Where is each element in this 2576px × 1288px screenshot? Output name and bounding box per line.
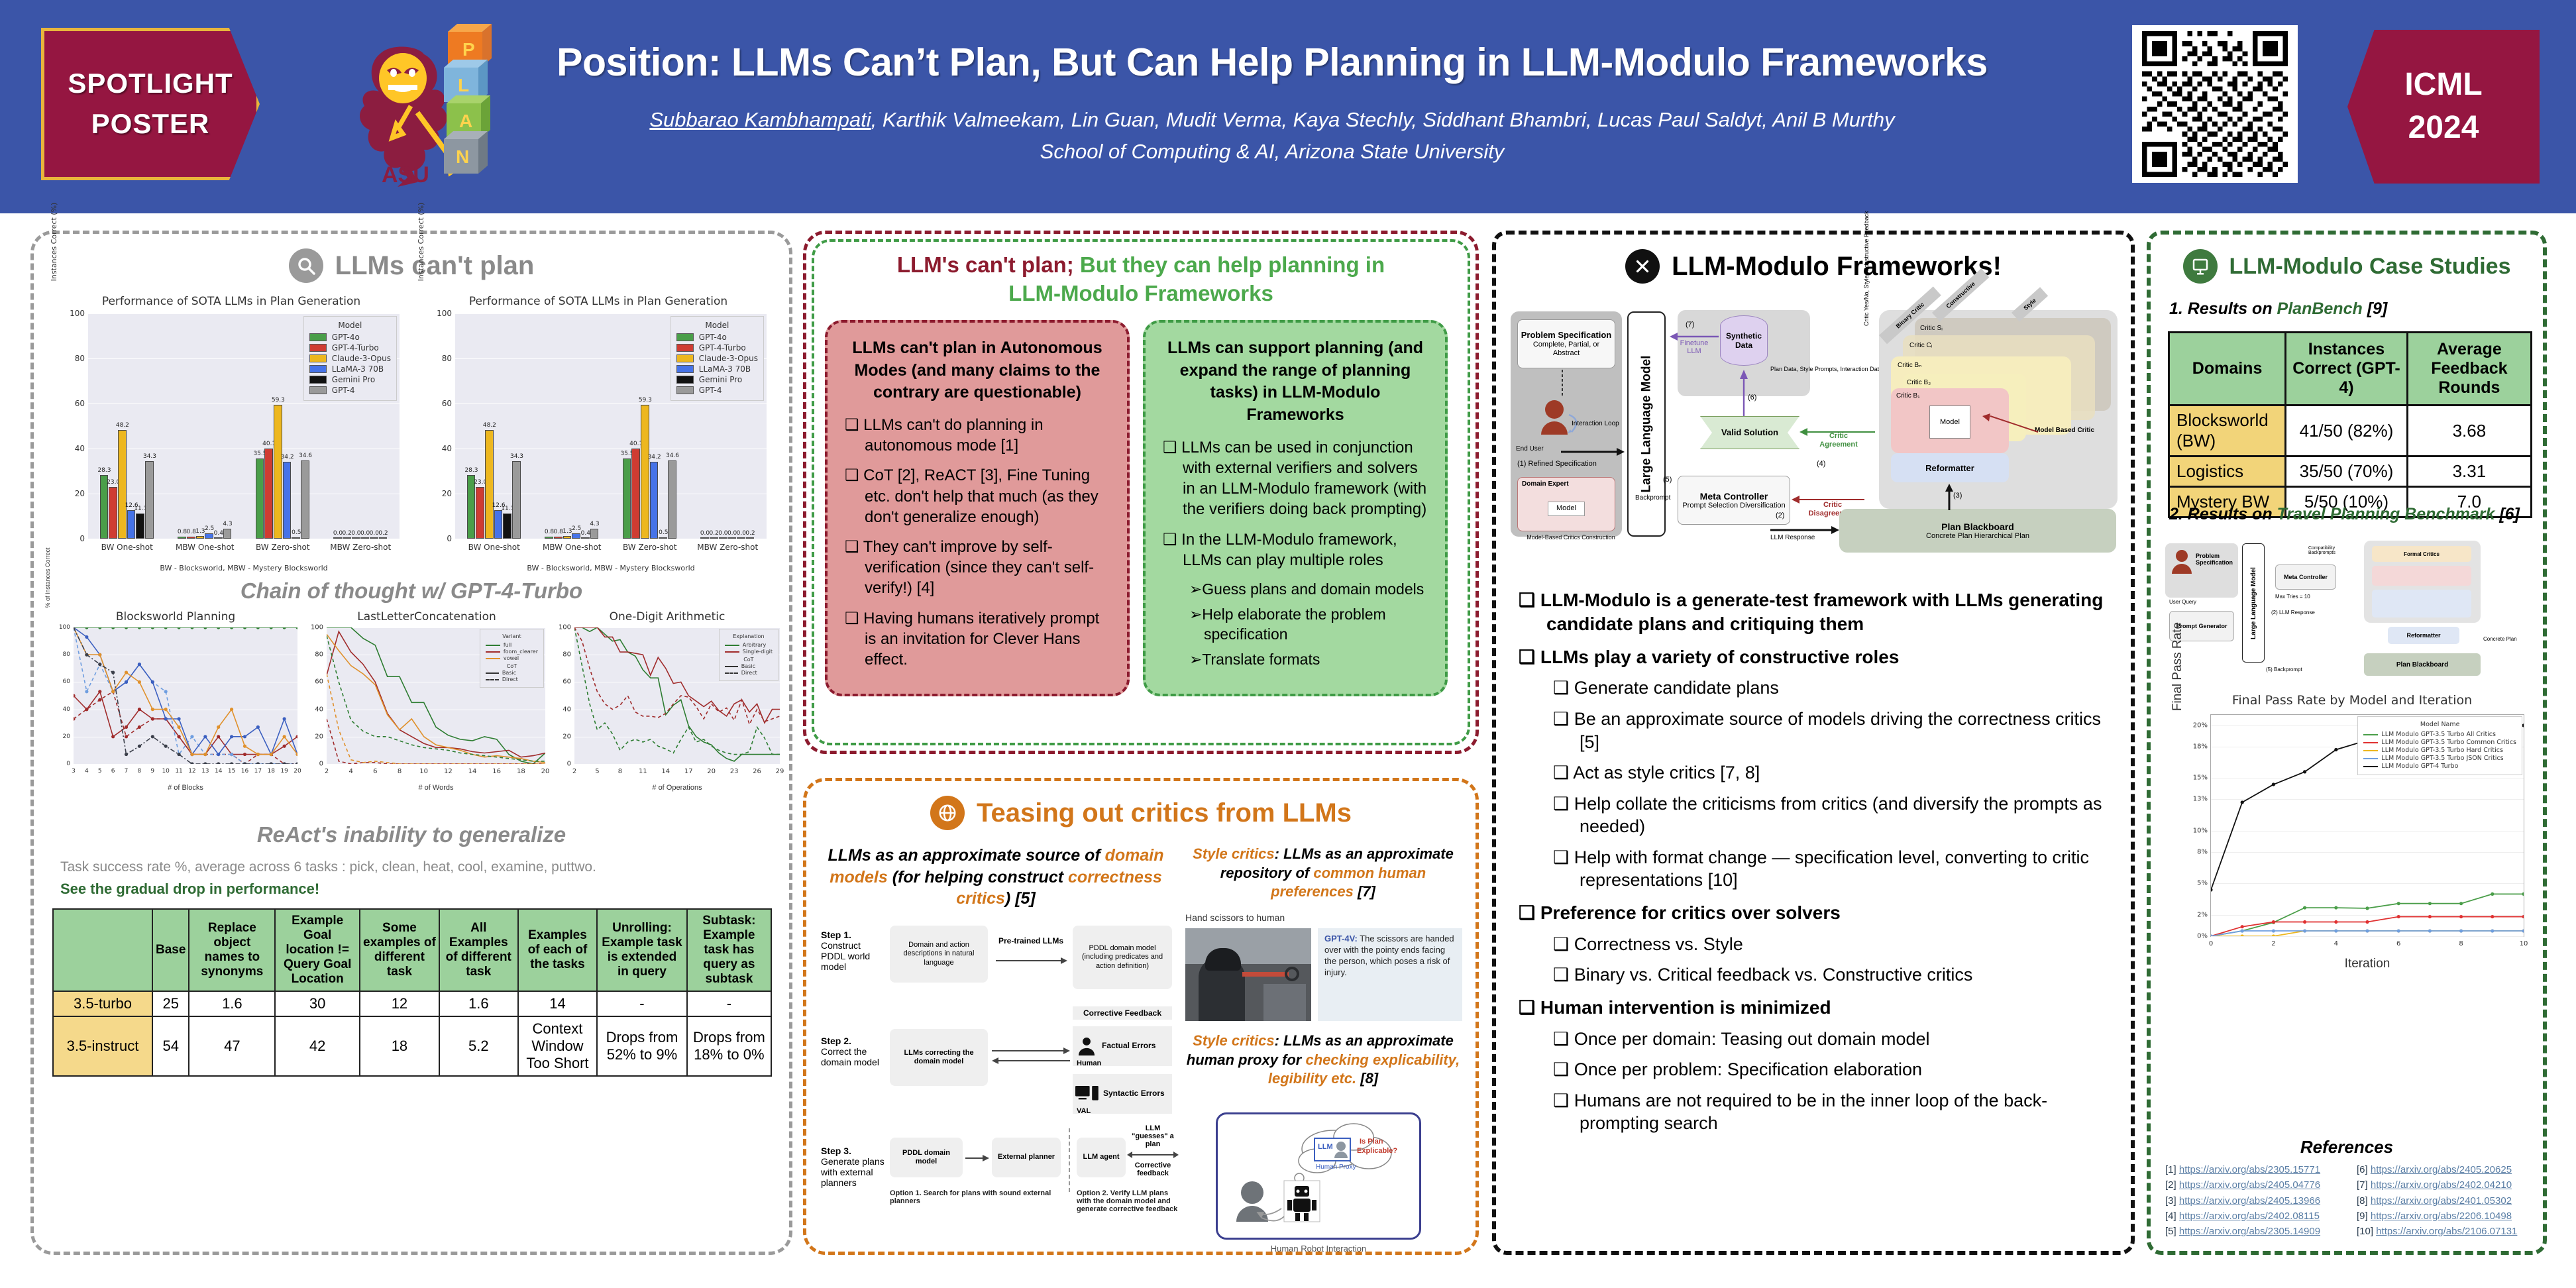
legend-label: LLaMA-3 70B	[699, 364, 751, 374]
svg-text:N: N	[456, 146, 469, 167]
bar-value-label: 34.2	[645, 454, 664, 460]
reference-link[interactable]: https://arxiv.org/abs/2305.14909	[2179, 1226, 2320, 1237]
chart-ylabel: Instances Correct (%)	[417, 149, 425, 335]
pddl-steps-diagram: Step 1. Construct PDDL world model Domai…	[821, 926, 1179, 1237]
llm-response-label: LLM Response	[1770, 534, 1815, 541]
bar-value-label: 34.2	[278, 454, 297, 460]
bullet-secondary: ❑ Help with format change — specificatio…	[1553, 846, 2115, 892]
legend-label: GPT-4-Turbo	[699, 343, 746, 352]
reference-number: [6]	[2357, 1164, 2371, 1175]
y-axis-tick: 5%	[2197, 880, 2208, 887]
col4-heading: LLM-Modulo Case Studies	[2151, 235, 2543, 284]
legend-line-swatch	[725, 651, 739, 653]
table-cell: 25	[152, 991, 189, 1016]
step2-num: Step 2.	[821, 1036, 851, 1046]
table-row-header: Logistics	[2169, 456, 2286, 487]
section1-ref: [9]	[2363, 299, 2388, 318]
legend-label: GPT-4o	[332, 333, 360, 342]
bullet-primary: ❑ Preference for critics over solvers	[1519, 901, 2115, 925]
y-axis-tick: 100	[559, 624, 571, 631]
page-title: Position: LLMs Can’t Plan, But Can Help …	[510, 40, 2034, 85]
hri-diagram: LLM Human Proxy Is Plan Explicable?	[1216, 1112, 1421, 1240]
y-axis-tick: 60	[75, 399, 85, 408]
reference-link[interactable]: https://arxiv.org/abs/2305.15771	[2179, 1164, 2320, 1175]
x-axis-tick: MBW One-shot	[543, 543, 602, 552]
travel-compatibility: Compatibility Backprompts	[2308, 546, 2355, 555]
y-axis-tick: 0	[80, 534, 85, 543]
bar	[343, 537, 351, 539]
bar	[485, 430, 494, 539]
y-axis-tick: 40	[75, 444, 85, 453]
llm-bar: Large Language Model	[1627, 311, 1666, 537]
step2-val-error: Syntactic Errors	[1103, 1089, 1165, 1098]
legend-label: GPT-4-Turbo	[332, 343, 379, 352]
legend-label: GPT-4o	[699, 333, 727, 342]
table-header-cell: Replace object names to synonyms	[189, 909, 275, 991]
hri-caption: Human Robot Interaction	[1218, 1244, 1419, 1254]
bar	[333, 537, 342, 539]
chart-title: LastLetterConcatenation	[297, 610, 556, 623]
x-axis-tick: 5	[595, 768, 599, 775]
legend-label: full	[504, 642, 511, 648]
scissors-photo	[1185, 928, 1311, 1021]
legend-swatch	[676, 333, 694, 341]
travel-llm-bar: Large Language Model	[2242, 543, 2265, 663]
red-callout-list: ❑ LLMs can't do planning in autonomous m…	[845, 415, 1110, 670]
travel-concrete-plan: Concrete Plan	[2483, 636, 2530, 642]
col4-title: LLM-Modulo Case Studies	[2229, 254, 2511, 280]
meta-controller-sub: Prompt Selection Diversification	[1682, 502, 1785, 510]
bar	[650, 462, 659, 539]
rt2-3: [8]	[1356, 1070, 1378, 1087]
table-cell: 3.31	[2407, 456, 2531, 487]
y-axis-tick: 80	[63, 651, 70, 658]
lt-0: LLMs as an approximate source of	[828, 846, 1104, 865]
bar	[623, 458, 631, 539]
bar	[118, 430, 127, 539]
step1-num: Step 1.	[821, 930, 851, 940]
table-header-cell: Average Feedback Rounds	[2407, 333, 2531, 405]
travel-diagram: Problem Specification Prompt Generator L…	[2165, 537, 2536, 689]
critics-box: Teasing out critics from LLMs LLMs as an…	[803, 778, 1479, 1255]
x-axis-tick: 8	[398, 768, 402, 775]
author-list: Subbarao Kambhampati, Karthik Valmeekam,…	[510, 105, 2034, 136]
chart-ylabel: Instances Correct (%)	[50, 149, 58, 335]
x-axis-tick: 6	[373, 768, 377, 775]
step3-label: Step 3. Generate plans with external pla…	[821, 1146, 885, 1188]
reference-link[interactable]: https://arxiv.org/abs/2405.13966	[2179, 1195, 2320, 1207]
col3-heading: LLM-Modulo Frameworks!	[1496, 235, 2131, 284]
legend-line-swatch	[486, 679, 499, 680]
travel-llm-label: Large Language Model	[2250, 567, 2257, 639]
x-axis-tick: 26	[753, 768, 761, 775]
y-axis-tick: 60	[563, 678, 571, 686]
table-header-cell: Base	[152, 909, 189, 991]
bar	[563, 536, 572, 539]
x-axis-tick: 9	[150, 768, 154, 775]
svg-text:L: L	[458, 75, 469, 95]
x-axis-tick: 14	[468, 768, 477, 775]
table-cell: Drops from 52% to 9%	[597, 1016, 687, 1076]
model-based-critic-label: Model Based Critic	[2031, 427, 2098, 435]
x-axis-tick: 18	[268, 768, 275, 775]
bar-value-label: 0.2	[741, 530, 760, 537]
references-heading: References	[2151, 1137, 2543, 1157]
bar	[196, 536, 205, 539]
reference-item: [2] https://arxiv.org/abs/2405.04776	[2165, 1177, 2345, 1193]
chart-ylabel: Final Pass Rate	[2171, 587, 2185, 746]
section2-prefix: 2. Results on	[2169, 505, 2277, 523]
y-axis-tick: 0	[319, 761, 323, 768]
x-axis-tick: 29	[776, 768, 784, 775]
table-row: 3.5-turbo251.630121.614--	[53, 991, 771, 1016]
reference-number: [7]	[2357, 1179, 2371, 1191]
spotlight-line1: SPOTLIGHT	[68, 64, 233, 104]
cot-heading: Chain of thought w/ GPT-4-Turbo	[34, 578, 789, 604]
synthetic-data-cylinder: Synthetic Data	[1720, 315, 1768, 366]
legend-label: Direct	[502, 676, 518, 682]
spotlight-line2: POSTER	[91, 104, 210, 144]
reference-item: [10] https://arxiv.org/abs/2106.07131	[2357, 1224, 2536, 1239]
legend-label: Basic	[741, 663, 755, 669]
valid-solution-box: Valid Solution	[1700, 416, 1799, 449]
legend-label: Gemini Pro	[332, 375, 376, 384]
x-axis-tick: BW One-shot	[101, 543, 153, 552]
bar	[379, 537, 388, 539]
chart-title: Blocksworld Planning	[43, 610, 308, 623]
bar	[145, 461, 154, 539]
bar-value-label: 59.3	[269, 397, 288, 403]
presentation-icon	[2183, 249, 2218, 284]
plan-blackboard-title: Plan Blackboard	[1941, 521, 2014, 532]
legend-line-swatch	[2363, 734, 2378, 735]
step2-label: Step 2. Correct the domain model	[821, 1036, 885, 1067]
legend-label: Claude-3-Opus	[699, 354, 758, 363]
bullet-secondary: ❑ Act as style critics [7, 8]	[1553, 761, 2115, 784]
y-axis-tick: 20	[563, 733, 571, 740]
legend-swatch	[309, 386, 327, 394]
x-axis-tick: MBW Zero-shot	[697, 543, 758, 552]
svg-text:P: P	[462, 39, 475, 60]
x-axis-tick: 20	[707, 768, 716, 775]
bar	[256, 458, 264, 539]
table-cell: 18	[360, 1016, 439, 1076]
chart-title: Performance of SOTA LLMs in Plan Generat…	[413, 295, 784, 308]
step2-val-box: Syntactic Errors VAL	[1073, 1074, 1172, 1114]
legend-label: LLaMA-3 70B	[332, 364, 384, 374]
table-cell: Context Window Too Short	[518, 1016, 597, 1076]
y-axis-tick: 100	[437, 309, 452, 318]
reference-number: [4]	[2165, 1210, 2179, 1222]
table-cell: 41/50 (82%)	[2286, 405, 2408, 456]
reference-link[interactable]: https://arxiv.org/abs/2405.04776	[2179, 1179, 2320, 1191]
legend-line-swatch	[2363, 750, 2378, 751]
reference-link[interactable]: https://arxiv.org/abs/2405.20625	[2371, 1164, 2512, 1175]
meta-controller-title: Meta Controller	[1700, 491, 1768, 502]
step3-edge2: Corrective feedback	[1127, 1161, 1179, 1177]
y-axis-tick: 20	[442, 489, 452, 498]
legend-swatch	[676, 354, 694, 362]
column-case-studies: LLM-Modulo Case Studies 1. Results on Pl…	[2147, 231, 2547, 1255]
reference-item: [7] https://arxiv.org/abs/2402.04210	[2357, 1177, 2536, 1193]
legend-label: LLM Modulo GPT-3.5 Turbo Common Critics	[2381, 739, 2516, 746]
legend-swatch	[309, 376, 327, 384]
y-axis-tick: 100	[70, 309, 85, 318]
red-callout: LLMs can't plan in Autonomous Modes (and…	[825, 320, 1130, 696]
x-axis-tick: 6	[2396, 940, 2400, 947]
table-header-cell	[53, 909, 152, 991]
bar-value-label: 34.6	[663, 453, 682, 459]
reference-link[interactable]: https://arxiv.org/abs/2106.07131	[2376, 1226, 2517, 1237]
legend-label: LLM Modulo GPT-3.5 Turbo Hard Critics	[2381, 747, 2503, 754]
llm-modulo-diagram: Problem Specification Complete, Partial,…	[1508, 295, 2124, 561]
chart-title: Final Pass Rate by Model and Iteration	[2168, 693, 2536, 708]
bar	[370, 537, 378, 539]
bar	[214, 537, 223, 539]
y-axis-tick: 15%	[2193, 775, 2208, 782]
reference-item: [8] https://arxiv.org/abs/2401.05302	[2357, 1193, 2536, 1208]
step2-val-label: VAL	[1077, 1107, 1091, 1115]
reference-item: [5] https://arxiv.org/abs/2305.14909	[2165, 1224, 2345, 1239]
llm-label: Large Language Model	[1639, 356, 1654, 493]
critics-heading: Teasing out critics from LLMs	[806, 781, 1476, 830]
x-axis-tick: 11	[175, 768, 182, 775]
reference-item: [3] https://arxiv.org/abs/2405.13966	[2165, 1193, 2345, 1208]
conference-year: 2024	[2408, 107, 2479, 150]
x-axis-tick: 7	[125, 768, 129, 775]
green-callout-list: ❑ LLMs can be used in conjunction with e…	[1163, 437, 1428, 670]
reference-item: [9] https://arxiv.org/abs/2206.10498	[2357, 1208, 2536, 1224]
list-item-sub: ➢Help elaborate the problem specificatio…	[1163, 605, 1428, 645]
step2-human-error: Factual Errors	[1102, 1041, 1155, 1050]
bullet-secondary: ❑ Humans are not required to be in the i…	[1553, 1089, 2115, 1135]
react-subtitle-2: See the gradual drop in performance!	[60, 881, 319, 898]
x-axis-tick: 8	[138, 768, 142, 775]
x-axis-tick: MBW One-shot	[176, 543, 235, 552]
bar-value-label: 28.3	[462, 467, 481, 474]
y-axis-tick: 0	[66, 761, 70, 767]
travel-problem-spec: Problem Specification	[2196, 553, 2235, 566]
step7-label: (7)	[1686, 321, 1694, 329]
legend-line-swatch	[486, 645, 500, 646]
critics-right-title: Style critics: LLMs as an approximate re…	[1184, 845, 1462, 902]
step3-num: Step 3.	[821, 1146, 851, 1156]
y-axis-tick: 40	[563, 706, 571, 713]
y-axis-tick: 0	[567, 761, 571, 768]
chart-legend: Variantfullfoom_clearervowelCoTBasicDire…	[480, 629, 544, 688]
critic-b1-label: Critic B₁	[1896, 392, 1920, 400]
legend-line-swatch	[2363, 766, 2378, 767]
critics-left-title: LLMs as an approximate source of domain …	[824, 845, 1168, 910]
list-item: ❑ CoT [2], ReACT [3], Fine Tuning etc. d…	[845, 465, 1110, 527]
column-position: LLM's can't plan; But they can help plan…	[803, 231, 1479, 1255]
rt-3: [7]	[1354, 883, 1375, 900]
lt-4: ) [5]	[1005, 889, 1036, 908]
legend-swatch	[676, 365, 694, 373]
y-axis-tick: 13%	[2193, 796, 2208, 803]
x-axis-tick: 16	[492, 768, 501, 775]
legend-label: Gemini Pro	[699, 375, 743, 384]
bar	[360, 537, 369, 539]
gpt4v-label: GPT-4V:	[1324, 934, 1358, 943]
reference-number: [3]	[2165, 1195, 2179, 1207]
reference-link[interactable]: https://arxiv.org/abs/2206.10498	[2371, 1210, 2512, 1222]
green-callout: LLMs can support planning (and expand th…	[1143, 320, 1448, 696]
legend-label: Direct	[741, 670, 757, 676]
x-axis-tick: 2	[2271, 940, 2275, 947]
bullet-secondary: ❑ Help collate the criticisms from criti…	[1553, 792, 2115, 838]
red-callout-title: LLMs can't plan in Autonomous Modes (and…	[845, 337, 1110, 404]
option2-text: Option 2. Verify LLM plans with the doma…	[1077, 1189, 1179, 1213]
qr-code[interactable]	[2132, 25, 2298, 183]
table-cell: 12	[360, 991, 439, 1016]
legend-label: Arbitrary	[743, 642, 766, 648]
reference-item: [1] https://arxiv.org/abs/2305.15771	[2165, 1162, 2345, 1177]
table-header-cell: Unrolling: Example task is extended in q…	[597, 909, 687, 991]
table-row-header: 3.5-instruct	[53, 1016, 152, 1076]
table-cell: 30	[275, 991, 360, 1016]
table-cell: 14	[518, 991, 597, 1016]
y-axis-tick: 80	[75, 354, 85, 363]
y-axis-tick: 80	[442, 354, 452, 363]
reference-item: [4] https://arxiv.org/abs/2402.08115	[2165, 1208, 2345, 1224]
y-axis-tick: 20	[315, 733, 323, 740]
critic-model-box: Model	[1929, 405, 1970, 439]
planbench-table: DomainsInstances Correct (GPT-4)Average …	[2168, 331, 2532, 518]
legend-swatch	[676, 376, 694, 384]
bar	[494, 510, 503, 539]
legend-swatch	[309, 365, 327, 373]
gpt4v-response: GPT-4V: The scissors are handed over wit…	[1318, 928, 1462, 1021]
step2-edge-label: Corrective Feedback	[1073, 1006, 1172, 1020]
y-axis-tick: 40	[315, 706, 323, 713]
column-llms-cant-plan: LLMs can't plan Performance of SOTA LLMs…	[30, 231, 792, 1255]
bar	[727, 537, 736, 539]
x-axis-tick: 17	[684, 768, 693, 775]
legend-swatch	[676, 344, 694, 352]
step3-planner-box: External planner	[992, 1138, 1061, 1177]
x-axis-tick: 4	[349, 768, 352, 775]
bar	[668, 460, 676, 539]
asu-plan-logo: ASU P L A	[318, 13, 510, 205]
domain-expert-label: Domain Expert	[1522, 480, 1569, 488]
bar-value-label: 34.3	[140, 453, 159, 460]
bar	[554, 537, 563, 539]
bar	[274, 405, 282, 539]
chart-title: One-Digit Arithmetic	[545, 610, 789, 623]
y-axis-tick: 10%	[2193, 827, 2208, 834]
table-header-cell: Domains	[2169, 333, 2286, 405]
reference-link[interactable]: https://arxiv.org/abs/2401.05302	[2371, 1195, 2512, 1207]
x-axis-tick: 11	[639, 768, 647, 775]
x-axis-tick: 4	[85, 768, 89, 775]
bar	[737, 537, 745, 539]
step5-label: (5)	[1663, 476, 1672, 484]
bar-value-label: 4.3	[586, 521, 604, 527]
reference-number: [2]	[2165, 1179, 2179, 1191]
legend-label: LLM Modulo GPT-3.5 Turbo All Critics	[2381, 731, 2496, 738]
chart-xlabel: BW - Blocksworld, MBW - Mystery Blockswo…	[455, 564, 767, 572]
table-cell: 5.2	[439, 1016, 518, 1076]
travel-formal-critics: Formal Critics	[2372, 546, 2471, 562]
reference-link[interactable]: https://arxiv.org/abs/2402.08115	[2179, 1210, 2320, 1222]
table-cell: 47	[189, 1016, 275, 1076]
reference-link[interactable]: https://arxiv.org/abs/2402.04210	[2371, 1179, 2512, 1191]
bullet-secondary: ❑ Once per problem: Specification elabor…	[1553, 1058, 2115, 1081]
chart-lastletter: LastLetterConcatenation 0204060801002468…	[297, 610, 556, 802]
problem-spec-title: Problem Specification	[1521, 330, 1612, 341]
bar	[710, 537, 718, 539]
green-callout-title: LLMs can support planning (and expand th…	[1163, 337, 1428, 427]
x-axis-tick: 14	[661, 768, 670, 775]
reference-number: [5]	[2165, 1226, 2179, 1237]
legend-line-swatch	[486, 658, 500, 659]
critics-right-title-2: Style critics: LLMs as an approximate hu…	[1184, 1032, 1462, 1089]
svg-text:Is Plan: Is Plan	[1360, 1138, 1383, 1146]
chart-xlabel: BW - Blocksworld, MBW - Mystery Blockswo…	[88, 564, 400, 572]
list-item-sub: ➢Translate formats	[1163, 650, 1428, 670]
x-axis-tick: BW Zero-shot	[256, 543, 310, 552]
svg-text:Human Proxy: Human Proxy	[1316, 1163, 1356, 1171]
domain-expert-panel: Domain Expert Model	[1517, 477, 1615, 531]
step1-label: Step 1. Construct PDDL world model	[821, 930, 885, 972]
option1-label: Option 1. Search for plans with sound ex…	[890, 1189, 1051, 1205]
step3-llm-agent-box: LLM agent	[1077, 1138, 1126, 1177]
x-axis-tick: 8	[618, 768, 622, 775]
x-axis-tick: 10	[419, 768, 428, 775]
search-icon	[289, 248, 323, 283]
bar	[178, 537, 186, 539]
legend-label: GPT-4	[699, 386, 722, 395]
x-circle-icon	[1625, 249, 1660, 284]
bar-value-label: 59.3	[636, 397, 655, 403]
interaction-loop-label: Interaction Loop	[1572, 420, 1619, 427]
bar	[352, 537, 360, 539]
position-heading-green-2: LLM-Modulo Frameworks	[829, 280, 1453, 308]
section1-name: PlanBench	[2277, 299, 2363, 318]
bar	[283, 462, 292, 539]
table-cell: 35/50 (70%)	[2286, 456, 2408, 487]
bar	[301, 460, 309, 539]
x-axis-tick: 6	[111, 768, 115, 775]
globe-icon	[930, 796, 965, 830]
x-axis-tick: 3	[72, 768, 76, 775]
reference-number: [10]	[2357, 1226, 2376, 1237]
step1-edge-label: Pre-trained LLMs	[994, 936, 1067, 945]
step2-human-label: Human	[1077, 1059, 1101, 1067]
step2-label: (2)	[1776, 511, 1784, 519]
bar	[187, 537, 195, 539]
legend-line-swatch	[725, 666, 738, 667]
y-axis-tick: 0%	[2197, 933, 2208, 940]
legend-line-swatch	[2363, 742, 2378, 743]
reference-number: [8]	[2357, 1195, 2371, 1207]
legend-label: Basic	[502, 670, 516, 676]
y-axis-tick: 80	[563, 651, 571, 659]
svg-text:Explicable?: Explicable?	[1357, 1147, 1397, 1155]
bar	[223, 529, 232, 539]
x-axis-tick: 10	[2520, 940, 2528, 947]
critic-b2-label: Critic B₂	[1907, 379, 1931, 386]
travel-llm-response: (2) LLM Response	[2271, 610, 2315, 616]
x-axis-tick: 16	[241, 768, 248, 775]
scissors-caption: Hand scissors to human	[1185, 912, 1464, 923]
bar	[292, 537, 300, 539]
bar	[109, 487, 117, 539]
bar-value-label: 28.3	[95, 467, 114, 474]
x-axis-tick: BW One-shot	[468, 543, 520, 552]
bar	[512, 461, 521, 539]
